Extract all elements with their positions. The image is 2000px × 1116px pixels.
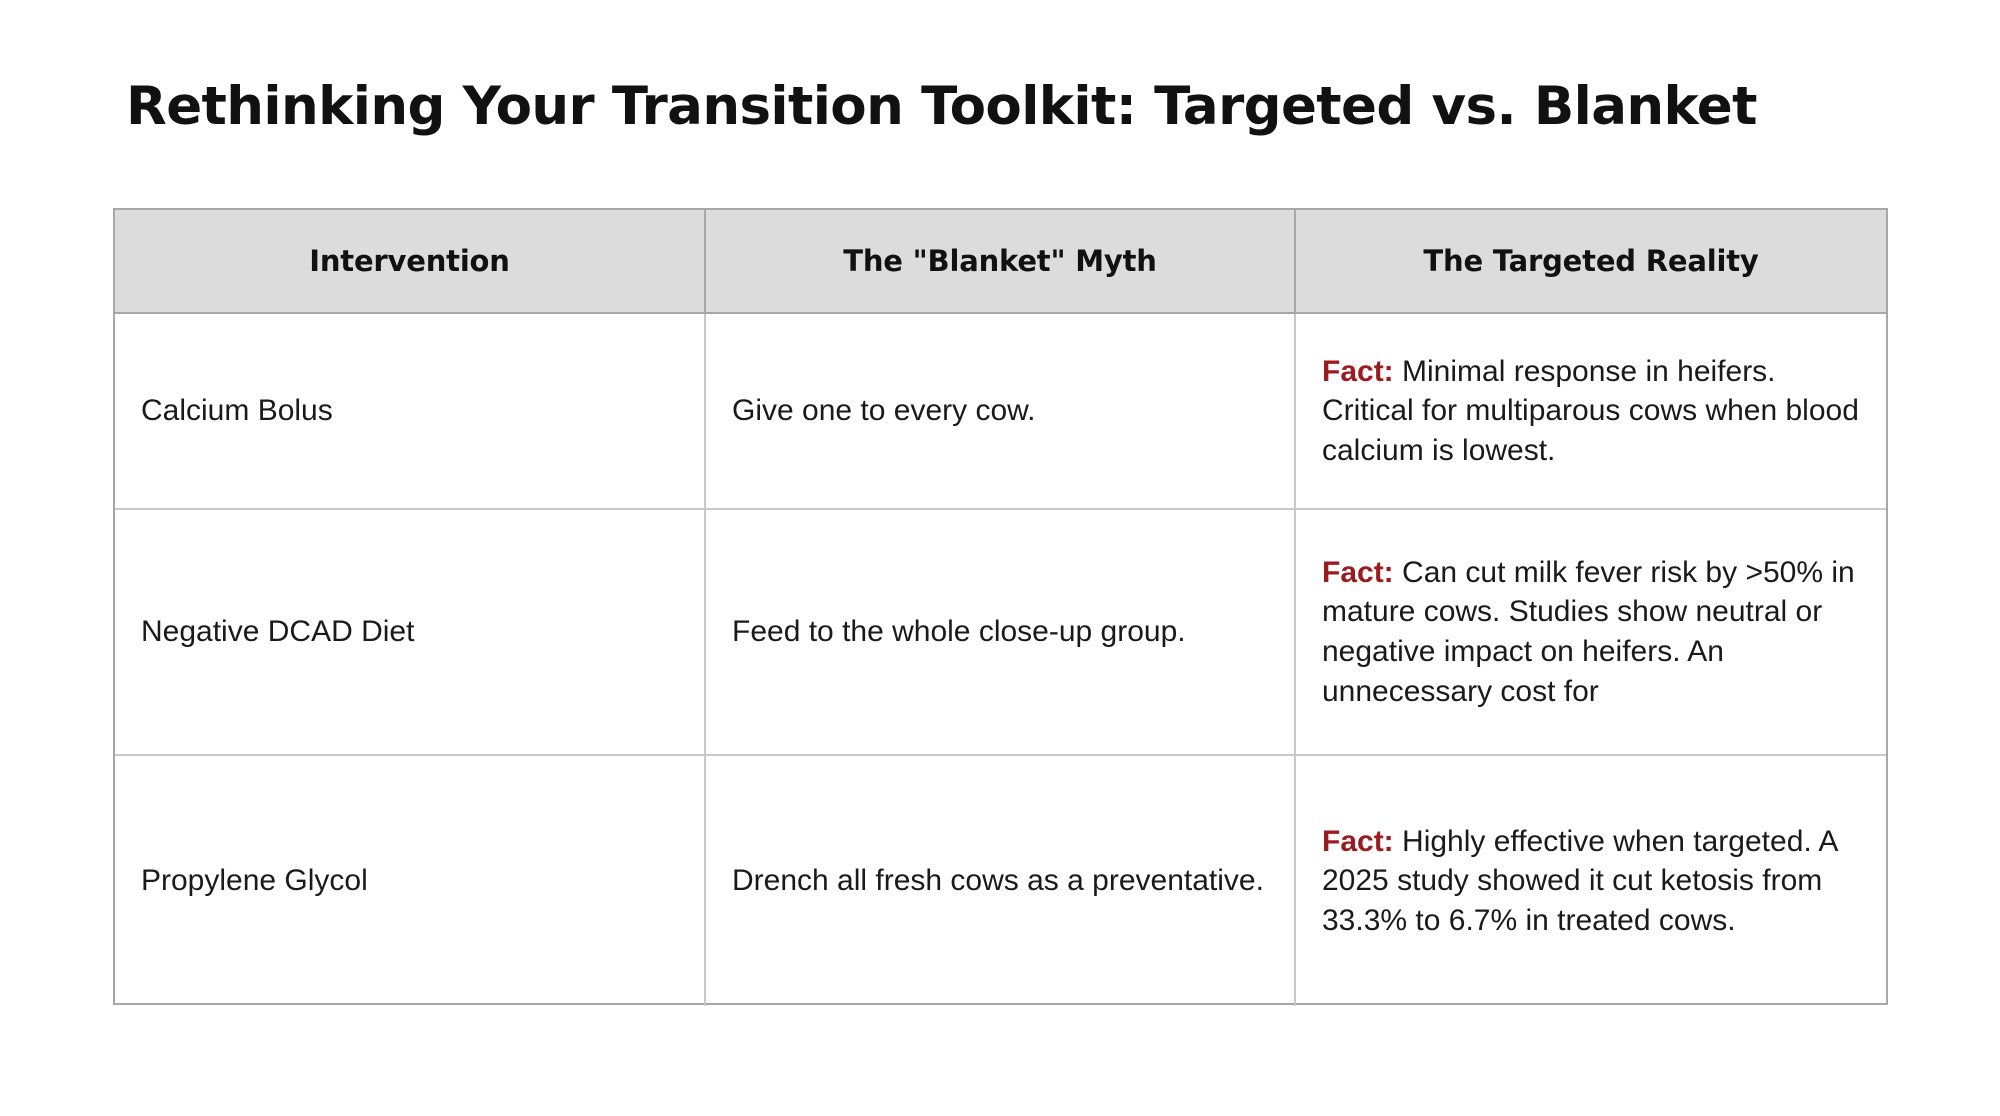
cell-blanket-myth: Give one to every cow. [705, 313, 1295, 509]
column-header-targeted-reality: The Targeted Reality [1295, 210, 1886, 313]
reality-text-block: Fact: Can cut milk fever risk by >50% in… [1322, 553, 1860, 711]
table-row: Negative DCAD Diet Feed to the whole clo… [115, 509, 1886, 755]
page-title: Rethinking Your Transition Toolkit: Targ… [126, 78, 1926, 136]
reality-text-block: Fact: Highly effective when targeted. A … [1322, 822, 1860, 941]
fact-label: Fact: [1322, 556, 1394, 589]
table-header: Intervention The "Blanket" Myth The Targ… [115, 210, 1886, 313]
fact-body: Can cut milk fever risk by >50% in matur… [1322, 556, 1855, 708]
cell-targeted-reality: Fact: Highly effective when targeted. A … [1295, 755, 1886, 1006]
reality-text-block: Fact: Minimal response in heifers. Criti… [1322, 352, 1860, 471]
table: Intervention The "Blanket" Myth The Targ… [115, 210, 1886, 1006]
table-row: Calcium Bolus Give one to every cow. Fac… [115, 313, 1886, 509]
cell-intervention: Calcium Bolus [115, 313, 705, 509]
table-row: Propylene Glycol Drench all fresh cows a… [115, 755, 1886, 1006]
table-body: Calcium Bolus Give one to every cow. Fac… [115, 313, 1886, 1006]
fact-body: Highly effective when targeted. A 2025 s… [1322, 825, 1837, 937]
fact-body: Minimal response in heifers. Critical fo… [1322, 355, 1859, 467]
cell-blanket-myth: Drench all fresh cows as a preventative. [705, 755, 1295, 1006]
cell-targeted-reality: Fact: Can cut milk fever risk by >50% in… [1295, 509, 1886, 755]
fact-label: Fact: [1322, 355, 1394, 388]
table-header-row: Intervention The "Blanket" Myth The Targ… [115, 210, 1886, 313]
fact-label: Fact: [1322, 825, 1394, 858]
column-header-blanket-myth: The "Blanket" Myth [705, 210, 1295, 313]
cell-targeted-reality: Fact: Minimal response in heifers. Criti… [1295, 313, 1886, 509]
comparison-table: Intervention The "Blanket" Myth The Targ… [113, 208, 1888, 1005]
cell-blanket-myth: Feed to the whole close-up group. [705, 509, 1295, 755]
slide-canvas: Rethinking Your Transition Toolkit: Targ… [0, 0, 2000, 1116]
column-header-intervention: Intervention [115, 210, 705, 313]
cell-intervention: Propylene Glycol [115, 755, 705, 1006]
cell-intervention: Negative DCAD Diet [115, 509, 705, 755]
